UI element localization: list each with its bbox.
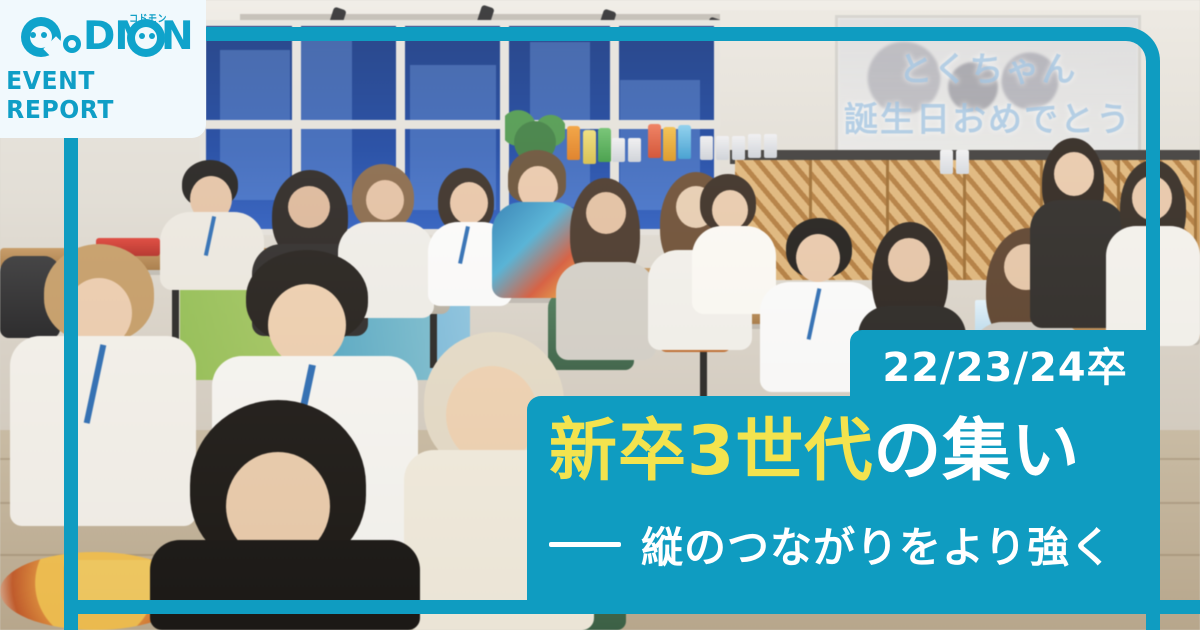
- drink-can: [940, 150, 953, 174]
- drink-bottle: [598, 128, 611, 162]
- event-report-label: EVENT REPORT: [6, 66, 200, 124]
- drink-bottle: [663, 127, 676, 161]
- logo-card: コドモン DM N EVENT REPORT: [0, 0, 206, 138]
- drink-can: [612, 138, 625, 162]
- logo-small-o: [63, 35, 81, 53]
- drink-bottle: [567, 126, 580, 160]
- main-title-rest: の集い: [873, 412, 1080, 491]
- drink-can: [748, 134, 761, 158]
- window-rail: [200, 120, 720, 129]
- subtitle-text: 縦のつながりをより強く: [641, 514, 1113, 575]
- teal-frame-bottom-bar: [64, 600, 1200, 614]
- drink-can: [716, 136, 729, 160]
- drink-can: [956, 150, 969, 174]
- drink-can: [732, 136, 745, 160]
- logo-o-eye-left-icon: [139, 33, 145, 39]
- drink-bottle: [678, 125, 691, 159]
- main-title: 新卒3世代の集い: [549, 404, 1149, 500]
- drink-bottle: [583, 130, 596, 164]
- projector-text-line2: 誕生日おめでとう: [838, 92, 1138, 141]
- subtitle-dash-icon: [549, 542, 621, 547]
- drink-can: [764, 134, 777, 158]
- projector-screen: とくちゃん 誕生日おめでとう: [838, 18, 1138, 168]
- projector-text-line1: とくちゃん: [838, 42, 1138, 91]
- main-title-highlight: 新卒3世代: [549, 412, 873, 491]
- logo-o-eye-right-icon: [149, 33, 155, 39]
- graduation-year-text: 22/23/24卒: [882, 335, 1127, 393]
- drink-bottle: [648, 124, 661, 158]
- subtitle-row: 縦のつながりをより強く: [549, 514, 1113, 575]
- graduation-year-badge: 22/23/24卒: [850, 330, 1160, 398]
- codmon-logo: コドモン DM N: [19, 14, 187, 60]
- event-report-banner: とくちゃん 誕生日おめでとう: [0, 0, 1200, 630]
- logo-c-eye-right-icon: [41, 32, 47, 38]
- drink-can: [628, 138, 641, 162]
- title-panel: 新卒3世代の集い 縦のつながりをより強く: [527, 396, 1160, 600]
- logo-letter-n: N: [161, 14, 193, 60]
- drink-can: [700, 136, 713, 160]
- logo-c-eye-left-icon: [30, 32, 36, 38]
